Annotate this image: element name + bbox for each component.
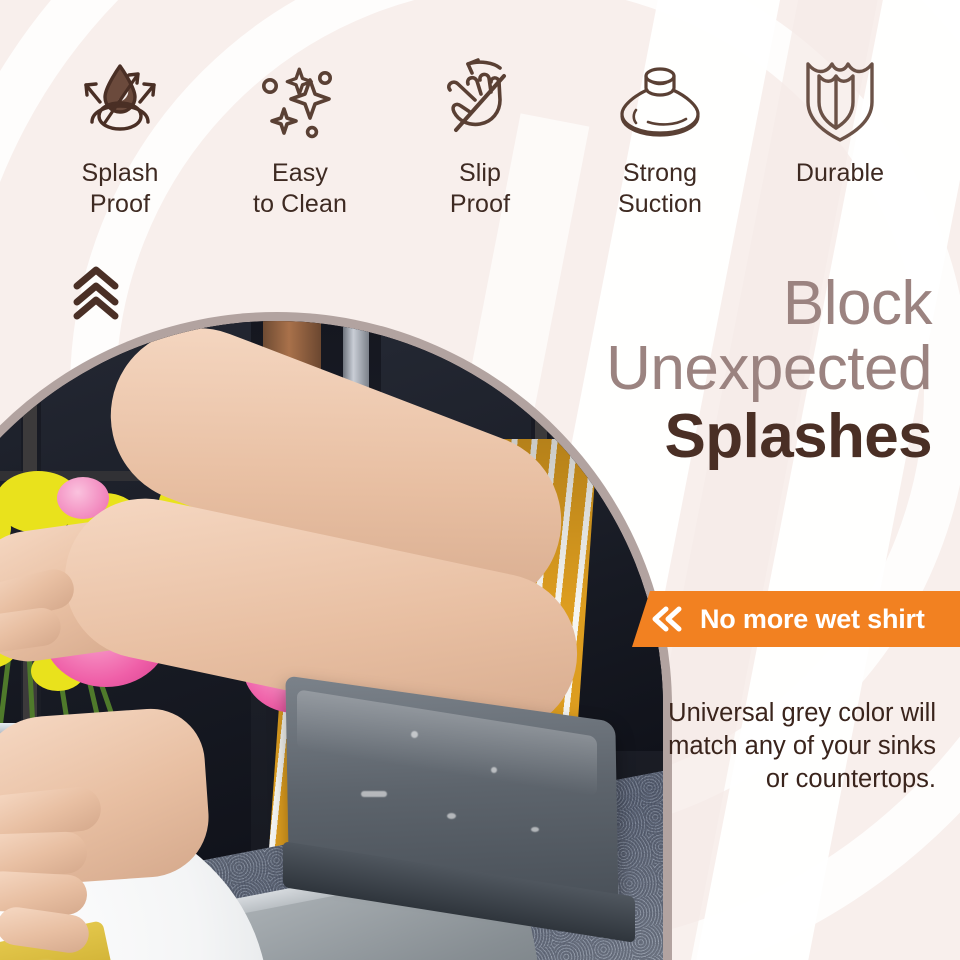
feature-list: Splash Proof Easy to Clean: [0, 52, 960, 242]
no-more-wet-shirt-banner: No more wet shirt: [632, 591, 960, 647]
headline-line-2: Unexpected: [312, 337, 932, 400]
banner-label: No more wet shirt: [700, 604, 925, 635]
feature-item-easy-to-clean: Easy to Clean: [210, 52, 390, 219]
headline: Block Unexpected Splashes: [312, 272, 932, 470]
feature-item-durable: Durable: [750, 52, 930, 189]
feature-label: Strong Suction: [618, 158, 702, 219]
feature-label: Splash Proof: [81, 158, 158, 219]
headline-line-1: Block: [312, 272, 932, 335]
feature-item-slip-proof: Slip Proof: [390, 52, 570, 219]
feature-label: Easy to Clean: [253, 158, 347, 219]
feature-item-strong-suction: Strong Suction: [570, 52, 750, 219]
hand-slip-crossed-icon: [432, 52, 528, 148]
water-droplet-splash-icon: [72, 52, 168, 148]
feature-label: Slip Proof: [450, 158, 510, 219]
triple-chevron-up-icon: [69, 264, 123, 325]
headline-line-3: Splashes: [312, 404, 932, 470]
sparkles-icon: [252, 52, 348, 148]
double-chevron-left-icon: [650, 605, 684, 633]
shield-icon: [792, 52, 888, 148]
description-text: Universal grey color will match any of y…: [596, 697, 936, 796]
infographic-canvas: Splash Proof Easy to Clean: [0, 0, 960, 960]
feature-item-splash-proof: Splash Proof: [30, 52, 210, 219]
suction-cup-icon: [612, 52, 708, 148]
feature-label: Durable: [796, 158, 884, 189]
